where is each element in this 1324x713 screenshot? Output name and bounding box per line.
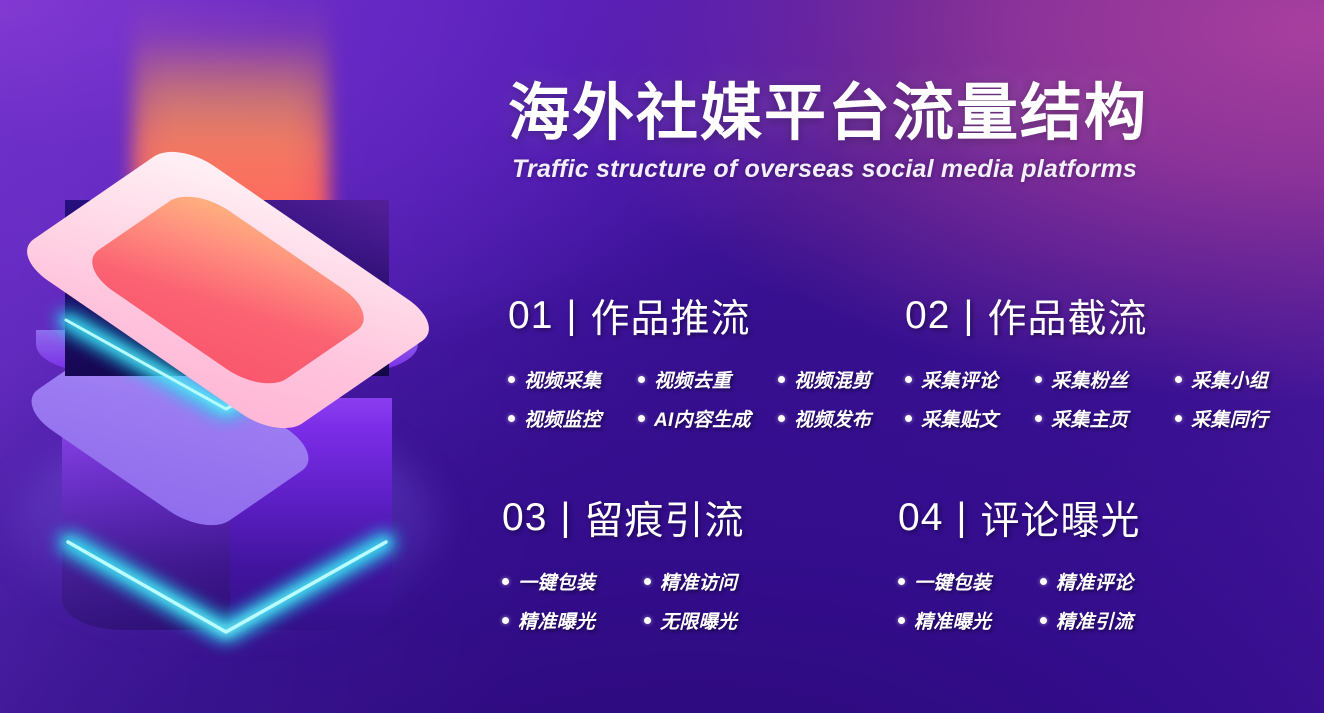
list-item-label: 视频采集 <box>524 366 601 393</box>
section-01-items: 视频采集 视频去重 视频混剪 视频监控 AI内容生成 视频发布 <box>508 366 908 432</box>
bullet-dot-icon <box>638 376 645 383</box>
bullet-dot-icon <box>778 376 785 383</box>
bullet-dot-icon <box>644 617 651 624</box>
section-01-heading: 01 | 作品推流 <box>508 288 908 344</box>
list-item[interactable]: 精准引流 <box>1040 607 1190 634</box>
bullet-dot-icon <box>1175 376 1182 383</box>
list-item[interactable]: 一键包装 <box>502 568 644 595</box>
section-03-number: 03 <box>502 496 547 540</box>
bullet-dot-icon <box>1035 415 1042 422</box>
section-02-items: 采集评论 采集粉丝 采集小组 采集贴文 采集主页 采集同行 <box>905 366 1305 432</box>
bullet-dot-icon <box>905 415 912 422</box>
page-title: 海外社媒平台流量结构 <box>508 62 1148 152</box>
list-item[interactable]: 视频发布 <box>778 405 908 432</box>
list-item-label: 采集粉丝 <box>1051 366 1128 393</box>
list-item-label: 一键包装 <box>914 568 991 595</box>
bullet-dot-icon <box>898 617 905 624</box>
list-item[interactable]: 采集贴文 <box>905 405 1035 432</box>
list-item[interactable]: 视频去重 <box>638 366 778 393</box>
bullet-dot-icon <box>1175 415 1182 422</box>
bullet-dot-icon <box>898 578 905 585</box>
section-04-number: 04 <box>898 496 943 540</box>
list-item[interactable]: 视频采集 <box>508 366 638 393</box>
section-03-title: 留痕引流 <box>585 490 745 546</box>
list-item-label: 采集评论 <box>921 366 998 393</box>
list-item-label: 采集贴文 <box>921 405 998 432</box>
section-02-number: 02 <box>905 294 950 338</box>
section-02-divider: | <box>963 294 974 338</box>
section-03-items: 一键包装 精准访问 精准曝光 无限曝光 <box>502 568 794 634</box>
list-item[interactable]: 采集同行 <box>1175 405 1305 432</box>
list-item[interactable]: 精准曝光 <box>502 607 644 634</box>
list-item-label: 精准访问 <box>660 568 737 595</box>
bullet-dot-icon <box>508 376 515 383</box>
list-item-label: 采集小组 <box>1191 366 1268 393</box>
list-item-label: AI内容生成 <box>654 405 751 432</box>
list-item[interactable]: 无限曝光 <box>644 607 794 634</box>
list-item-label: 视频监控 <box>524 405 601 432</box>
list-item[interactable]: 精准曝光 <box>898 607 1040 634</box>
list-item-label: 视频发布 <box>794 405 871 432</box>
bullet-dot-icon <box>638 415 645 422</box>
slide-content: 海外社媒平台流量结构 Traffic structure of overseas… <box>0 0 1324 713</box>
list-item[interactable]: 采集评论 <box>905 366 1035 393</box>
section-02: 02 | 作品截流 采集评论 采集粉丝 采集小组 采集贴文 采集主页 采集同行 <box>905 288 1305 432</box>
list-item[interactable]: 视频混剪 <box>778 366 908 393</box>
section-02-heading: 02 | 作品截流 <box>905 288 1305 344</box>
list-item-label: 采集同行 <box>1191 405 1268 432</box>
bullet-dot-icon <box>778 415 785 422</box>
bullet-dot-icon <box>502 617 509 624</box>
page-subtitle: Traffic structure of overseas social med… <box>512 155 1137 184</box>
list-item-label: 视频混剪 <box>794 366 871 393</box>
list-item[interactable]: 精准评论 <box>1040 568 1190 595</box>
section-03-heading: 03 | 留痕引流 <box>502 490 794 546</box>
section-04-title: 评论曝光 <box>981 490 1141 546</box>
bullet-dot-icon <box>1035 376 1042 383</box>
list-item[interactable]: 采集主页 <box>1035 405 1175 432</box>
bullet-dot-icon <box>905 376 912 383</box>
list-item-label: 精准曝光 <box>518 607 595 634</box>
section-04-divider: | <box>956 496 967 540</box>
bullet-dot-icon <box>1040 617 1047 624</box>
bullet-dot-icon <box>502 578 509 585</box>
list-item[interactable]: 采集小组 <box>1175 366 1305 393</box>
list-item-label: 无限曝光 <box>660 607 737 634</box>
section-03: 03 | 留痕引流 一键包装 精准访问 精准曝光 无限曝光 <box>502 490 794 634</box>
list-item[interactable]: AI内容生成 <box>638 405 778 432</box>
bullet-dot-icon <box>644 578 651 585</box>
list-item-label: 一键包装 <box>518 568 595 595</box>
bullet-dot-icon <box>508 415 515 422</box>
list-item[interactable]: 采集粉丝 <box>1035 366 1175 393</box>
section-01-title: 作品推流 <box>591 288 751 344</box>
section-01-number: 01 <box>508 294 553 338</box>
section-01: 01 | 作品推流 视频采集 视频去重 视频混剪 视频监控 AI内容生成 视频发… <box>508 288 908 432</box>
section-03-divider: | <box>560 496 571 540</box>
list-item[interactable]: 精准访问 <box>644 568 794 595</box>
bullet-dot-icon <box>1040 578 1047 585</box>
list-item[interactable]: 视频监控 <box>508 405 638 432</box>
list-item-label: 采集主页 <box>1051 405 1128 432</box>
slide-canvas: 海外社媒平台流量结构 Traffic structure of overseas… <box>0 0 1324 713</box>
list-item-label: 精准曝光 <box>914 607 991 634</box>
section-01-divider: | <box>566 294 577 338</box>
list-item-label: 精准引流 <box>1056 607 1133 634</box>
list-item-label: 视频去重 <box>654 366 731 393</box>
section-02-title: 作品截流 <box>988 288 1148 344</box>
section-04: 04 | 评论曝光 一键包装 精准评论 精准曝光 精准引流 <box>898 490 1190 634</box>
list-item-label: 精准评论 <box>1056 568 1133 595</box>
section-04-items: 一键包装 精准评论 精准曝光 精准引流 <box>898 568 1190 634</box>
list-item[interactable]: 一键包装 <box>898 568 1040 595</box>
section-04-heading: 04 | 评论曝光 <box>898 490 1190 546</box>
